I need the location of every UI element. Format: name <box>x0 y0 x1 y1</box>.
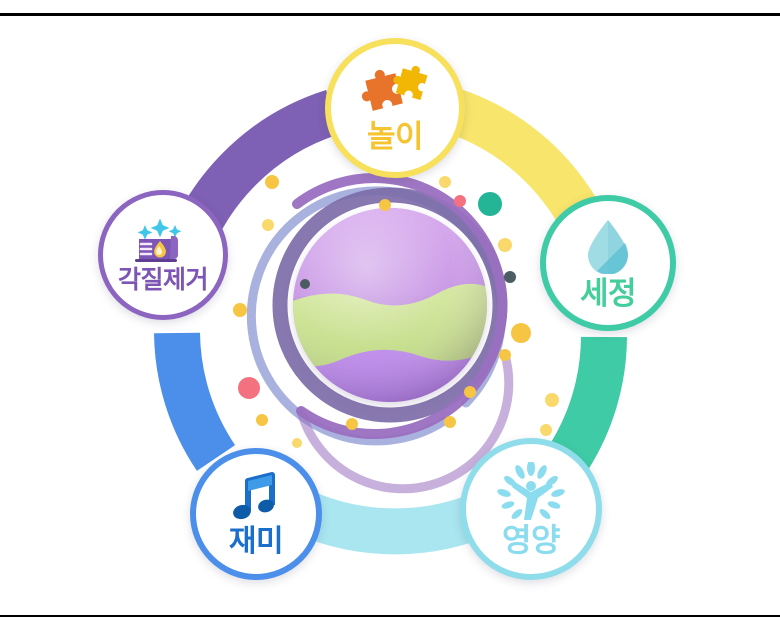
scrub-glove-icon <box>127 217 199 263</box>
arc-cleanse-nutrition <box>569 337 604 457</box>
badge-nutrition-label: 영양 <box>502 524 560 556</box>
badge-play[interactable]: 놀이 <box>325 38 465 178</box>
bottom-divider-line <box>0 615 780 617</box>
arc-fun-exfoliate <box>177 333 216 458</box>
puzzle-icon <box>360 65 430 115</box>
badge-exfoliate-label: 각질제거 <box>118 268 208 293</box>
badge-fun[interactable]: 재미 <box>190 448 322 580</box>
water-droplet-icon <box>585 218 631 274</box>
music-note-icon <box>230 471 282 525</box>
badge-exfoliate[interactable]: 각질제거 <box>98 190 228 320</box>
badge-cleanse[interactable]: 세정 <box>540 195 676 331</box>
badge-play-label: 놀이 <box>367 121 423 152</box>
infographic-canvas: 놀이 각질제거 <box>0 0 780 638</box>
badge-cleanse-label: 세정 <box>580 278 636 309</box>
badge-nutrition[interactable]: 영양 <box>460 438 602 580</box>
bath-bomb-sphere <box>290 200 490 410</box>
leaf-person-icon <box>495 462 567 522</box>
badge-fun-label: 재미 <box>229 527 283 557</box>
